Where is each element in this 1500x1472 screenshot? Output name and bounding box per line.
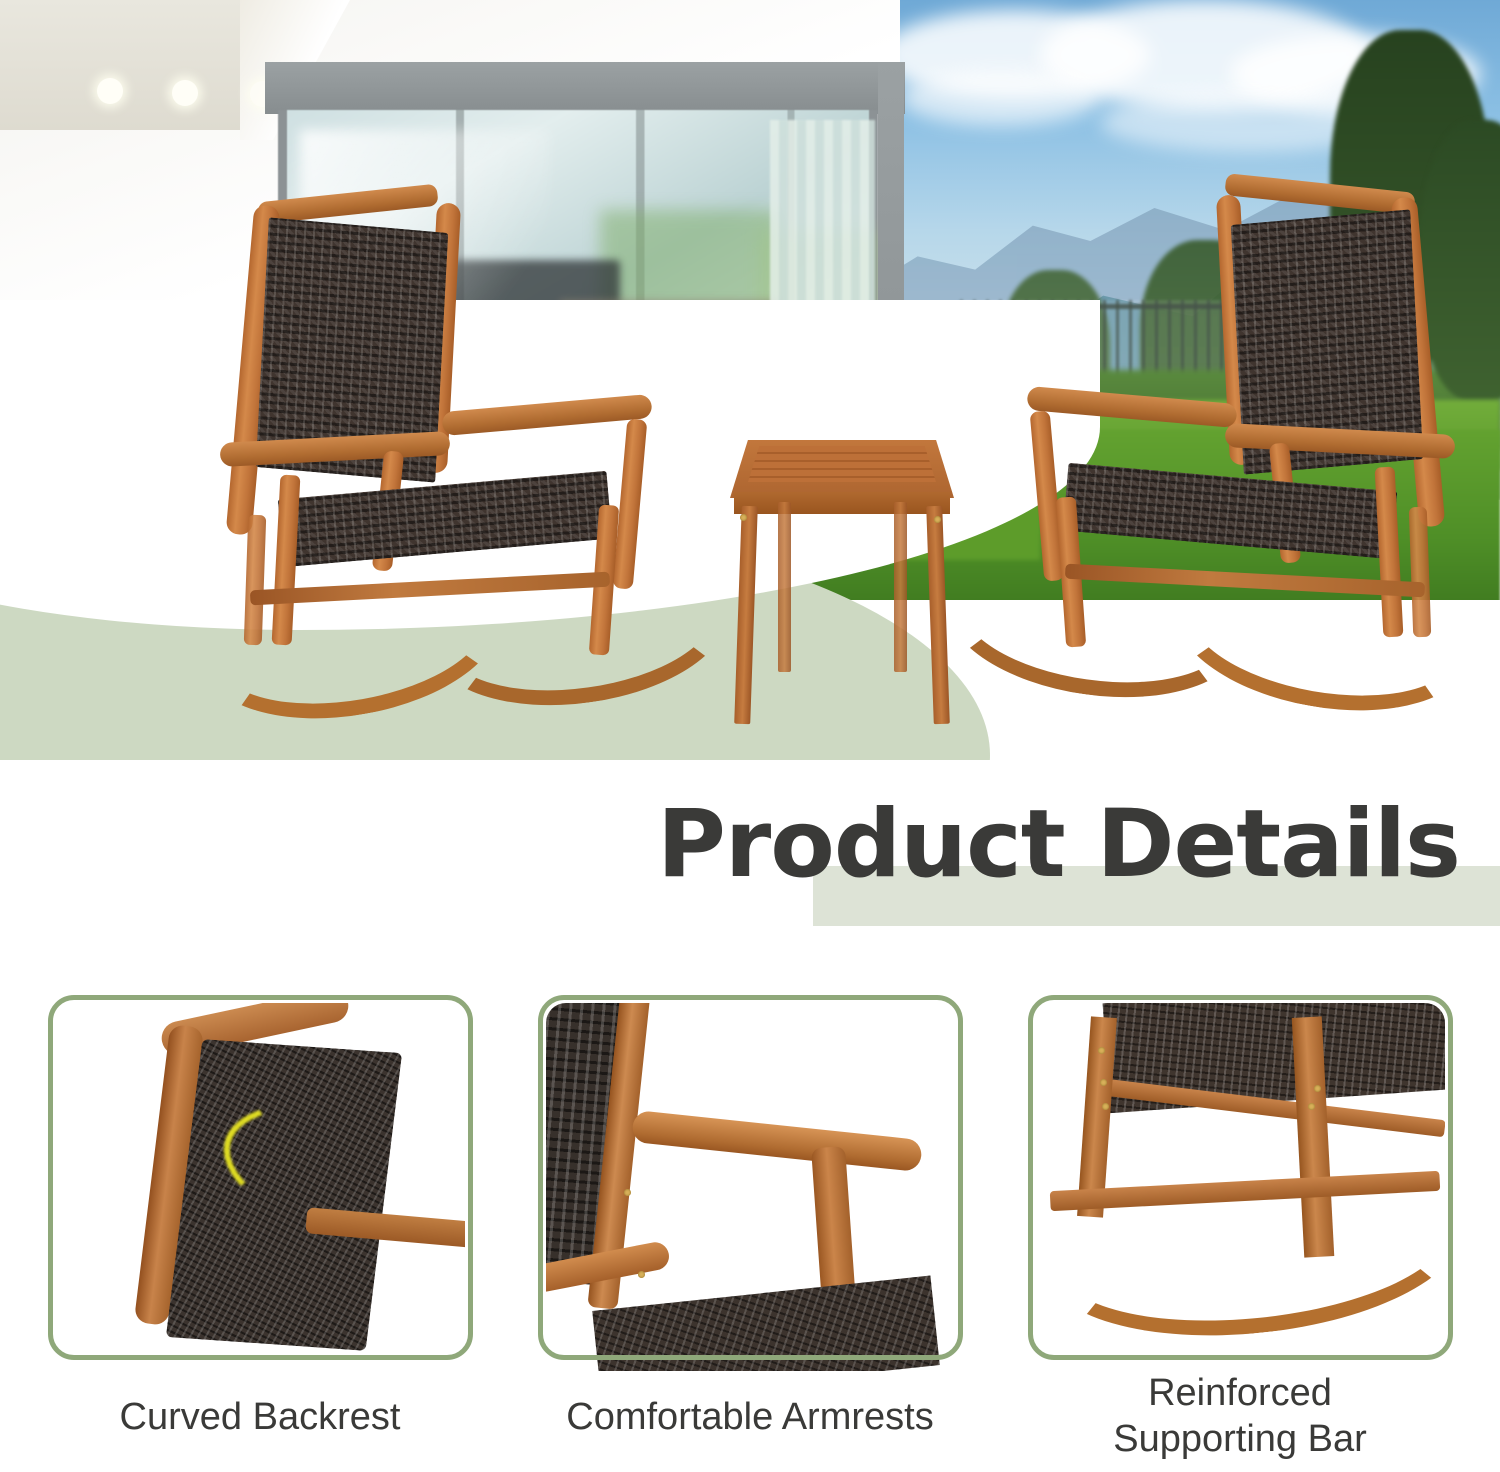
panel-frame (538, 995, 963, 1360)
rocking-chair-left (180, 185, 700, 705)
caption-line-1: Reinforced (1020, 1370, 1460, 1416)
table-apron (734, 492, 950, 514)
chair-armrest-left (1026, 386, 1237, 428)
caption-comfortable-armrests: Comfortable Armrests (530, 1394, 970, 1440)
page-title: Product Details (0, 790, 1460, 899)
rocking-chair-right (975, 175, 1495, 710)
table-leg (926, 506, 950, 724)
panel-frame (48, 995, 473, 1360)
table-leg (734, 506, 758, 724)
chair-rocker-runner (421, 533, 739, 723)
detail-captions: Curved Backrest Comfortable Armrests Rei… (0, 1382, 1500, 1472)
table-leg (894, 502, 907, 672)
detail-panel-curved-backrest (48, 995, 473, 1360)
panel-frame (1028, 995, 1453, 1360)
caption-curved-backrest: Curved Backrest (40, 1394, 480, 1440)
caption-line-2: Supporting Bar (1020, 1416, 1460, 1462)
caption-reinforced-supporting-bar: Reinforced Supporting Bar (1020, 1370, 1460, 1462)
chair-seat-weave (1063, 463, 1398, 560)
chair-crest-rail (1224, 173, 1415, 215)
table-top-slats (748, 446, 936, 482)
downlight-icon (97, 78, 123, 104)
door-lintel (265, 62, 905, 114)
screw-icon (740, 514, 747, 521)
detail-panel-comfortable-armrests (538, 995, 963, 1360)
product-detail-panels (0, 995, 1500, 1365)
downlight-icon (172, 80, 198, 106)
chair-armrest-right (441, 394, 652, 436)
chair-rocker-runner (936, 525, 1254, 715)
chair-seat-weave (278, 471, 613, 568)
cloud (900, 70, 1100, 126)
detail-panel-reinforced-supporting-bar (1028, 995, 1453, 1360)
hero-section (0, 0, 1500, 760)
table-leg (778, 502, 791, 672)
screw-icon (934, 516, 941, 523)
side-table (718, 440, 966, 725)
